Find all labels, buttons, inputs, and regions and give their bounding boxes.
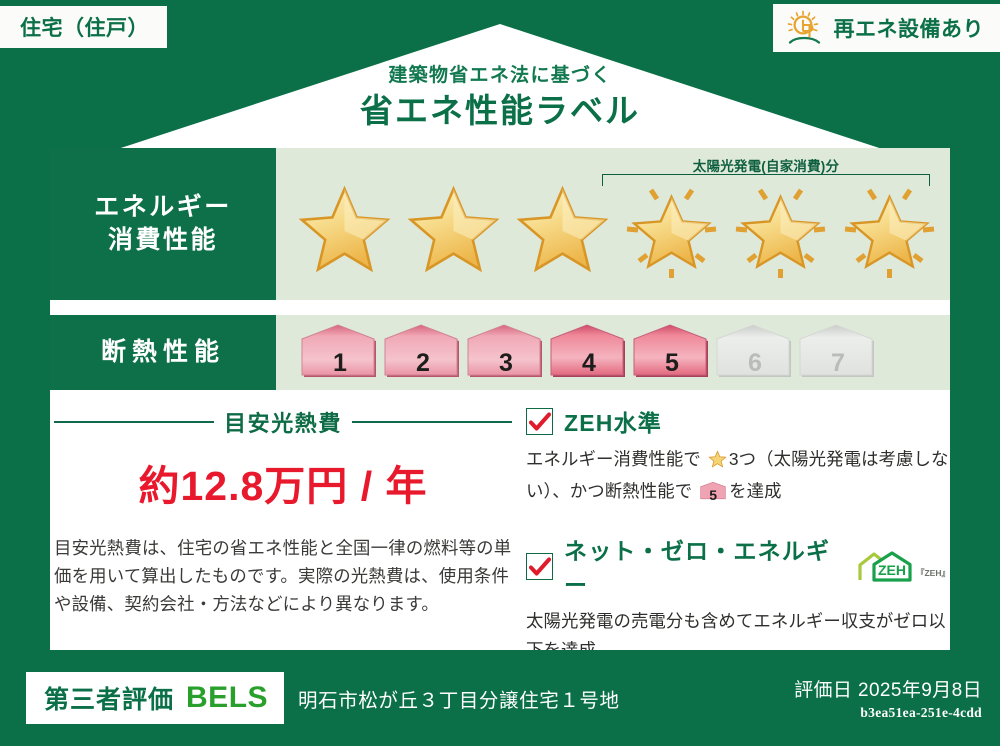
insulation-grade-2-value: 2 xyxy=(383,349,463,378)
energy-star-rating xyxy=(290,177,944,281)
net-zero-heading: ネット・ゼロ・エネルギー ZEH 『ZEH』 xyxy=(526,532,950,600)
checkbox-checked-icon xyxy=(526,553,553,580)
performance-rows: エネルギー 消費性能 太陽光発電(自家消費)分 xyxy=(50,148,950,390)
cost-heading: 目安光熱費 xyxy=(54,406,512,438)
insulation-label: 断熱性能 xyxy=(101,336,225,369)
energy-performance-label-cell: エネルギー 消費性能 xyxy=(50,148,276,300)
insulation-grade-6-value: 6 xyxy=(715,349,795,378)
checkbox-checked-icon xyxy=(526,408,553,435)
label-main-title: 省エネ性能ラベル xyxy=(0,90,1000,131)
cost-note: 目安光熱費は、住宅の省エネ性能と全国一律の燃料等の単価を用いて算出したものです。… xyxy=(54,534,512,619)
evaluation-date: 評価日 2025年9月8日 xyxy=(794,675,982,702)
insulation-grade-5: 5 xyxy=(632,323,712,383)
insulation-grade-badge-value: 5 xyxy=(700,484,726,507)
zeh-desc-part3: を達成 xyxy=(729,481,781,501)
label-title-group: 建築物省エネ法に基づく 省エネ性能ラベル xyxy=(0,64,1000,131)
insulation-grade-1-value: 1 xyxy=(300,349,380,378)
solar-sun-icon xyxy=(785,10,825,46)
energy-label-line1: エネルギー xyxy=(94,191,232,224)
zeh-standard-title: ZEH水準 xyxy=(564,404,662,438)
insulation-grade-scale: 1 2 3 xyxy=(300,323,878,383)
insulation-grade-4: 4 xyxy=(549,323,629,383)
energy-label-line2: 消費性能 xyxy=(108,224,218,257)
star-icon-solar-6 xyxy=(835,177,944,281)
solar-self-consumption-note: 太陽光発電(自家消費)分 xyxy=(601,155,931,175)
insulation-performance-label-cell: 断熱性能 xyxy=(50,315,276,390)
star-icon-1 xyxy=(290,177,399,281)
property-address: 明石市松が丘３丁目分譲住宅１号地 xyxy=(298,684,620,713)
insulation-grade-1: 1 xyxy=(300,323,380,383)
bels-logo-text: BELS xyxy=(186,681,268,715)
label-footer: 第三者評価 BELS 明石市松が丘３丁目分譲住宅１号地 評価日 2025年9月8… xyxy=(0,650,1000,746)
insulation-grade-badge-inline: 5 xyxy=(700,480,726,510)
energy-performance-label: 住宅（住戸） xyxy=(0,0,1000,746)
building-type-label: 住宅（住戸） xyxy=(20,12,149,42)
svg-text:ZEH: ZEH xyxy=(878,562,906,578)
insulation-grade-7: 7 xyxy=(798,323,878,383)
renewable-energy-badge: 再エネ設備あり xyxy=(773,4,1000,52)
zeh-desc-part1: エネルギー消費性能で xyxy=(526,449,701,469)
third-party-evaluation-label: 第三者評価 xyxy=(44,680,174,716)
label-subtitle: 建築物省エネ法に基づく xyxy=(0,64,1000,88)
insulation-performance-row: 断熱性能 xyxy=(50,315,950,390)
check-block-net-zero-energy: ネット・ゼロ・エネルギー ZEH 『ZEH』 太陽光発電の売電分も含めてエネルギ… xyxy=(526,532,950,663)
insulation-grade-2: 2 xyxy=(383,323,463,383)
evaluation-id: b3ea51ea-251e-4cdd xyxy=(794,705,982,721)
star-icon-solar-5 xyxy=(726,177,835,281)
insulation-grade-5-value: 5 xyxy=(632,349,712,378)
evaluation-meta: 評価日 2025年9月8日 b3ea51ea-251e-4cdd xyxy=(794,675,982,721)
insulation-grade-4-value: 4 xyxy=(549,349,629,378)
certification-checks: ZEH水準 エネルギー消費性能で 3つ（太陽光発電は考慮しない）、かつ断熱性能で… xyxy=(518,404,950,636)
building-type-badge: 住宅（住戸） xyxy=(0,6,167,48)
star-icon-solar-4 xyxy=(617,177,726,281)
zeh-standard-heading: ZEH水準 xyxy=(526,404,950,438)
star-icon-3 xyxy=(508,177,617,281)
insulation-grade-area: 1 2 3 xyxy=(276,315,950,390)
insulation-grade-3: 3 xyxy=(466,323,546,383)
estimated-utility-cost-section: 目安光熱費 約12.8万円 / 年 目安光熱費は、住宅の省エネ性能と全国一律の燃… xyxy=(50,404,518,636)
lower-content: 目安光熱費 約12.8万円 / 年 目安光熱費は、住宅の省エネ性能と全国一律の燃… xyxy=(50,404,950,636)
star-icon-2 xyxy=(399,177,508,281)
cost-rule-right xyxy=(352,421,512,423)
cost-title: 目安光熱費 xyxy=(224,406,342,438)
zeh-standard-description: エネルギー消費性能で 3つ（太陽光発電は考慮しない）、かつ断熱性能で 5 を達成 xyxy=(526,445,950,510)
cost-value: 約12.8万円 / 年 xyxy=(54,452,512,512)
net-zero-title: ネット・ゼロ・エネルギー xyxy=(564,532,837,600)
energy-performance-rating-area: 太陽光発電(自家消費)分 xyxy=(276,148,950,300)
star-icon-inline xyxy=(707,449,728,477)
zeh-logo-icon: ZEH 『ZEH』 xyxy=(852,549,950,583)
insulation-grade-6: 6 xyxy=(715,323,795,383)
bels-badge: 第三者評価 BELS xyxy=(26,672,284,724)
insulation-grade-3-value: 3 xyxy=(466,349,546,378)
energy-performance-row: エネルギー 消費性能 太陽光発電(自家消費)分 xyxy=(50,148,950,300)
check-block-zeh-standard: ZEH水準 エネルギー消費性能で 3つ（太陽光発電は考慮しない）、かつ断熱性能で… xyxy=(526,404,950,510)
zeh-logo-subtext: 『ZEH』 xyxy=(916,567,950,583)
renewable-energy-label: 再エネ設備あり xyxy=(834,13,985,43)
insulation-grade-7-value: 7 xyxy=(798,349,878,378)
cost-rule-left xyxy=(54,421,214,423)
